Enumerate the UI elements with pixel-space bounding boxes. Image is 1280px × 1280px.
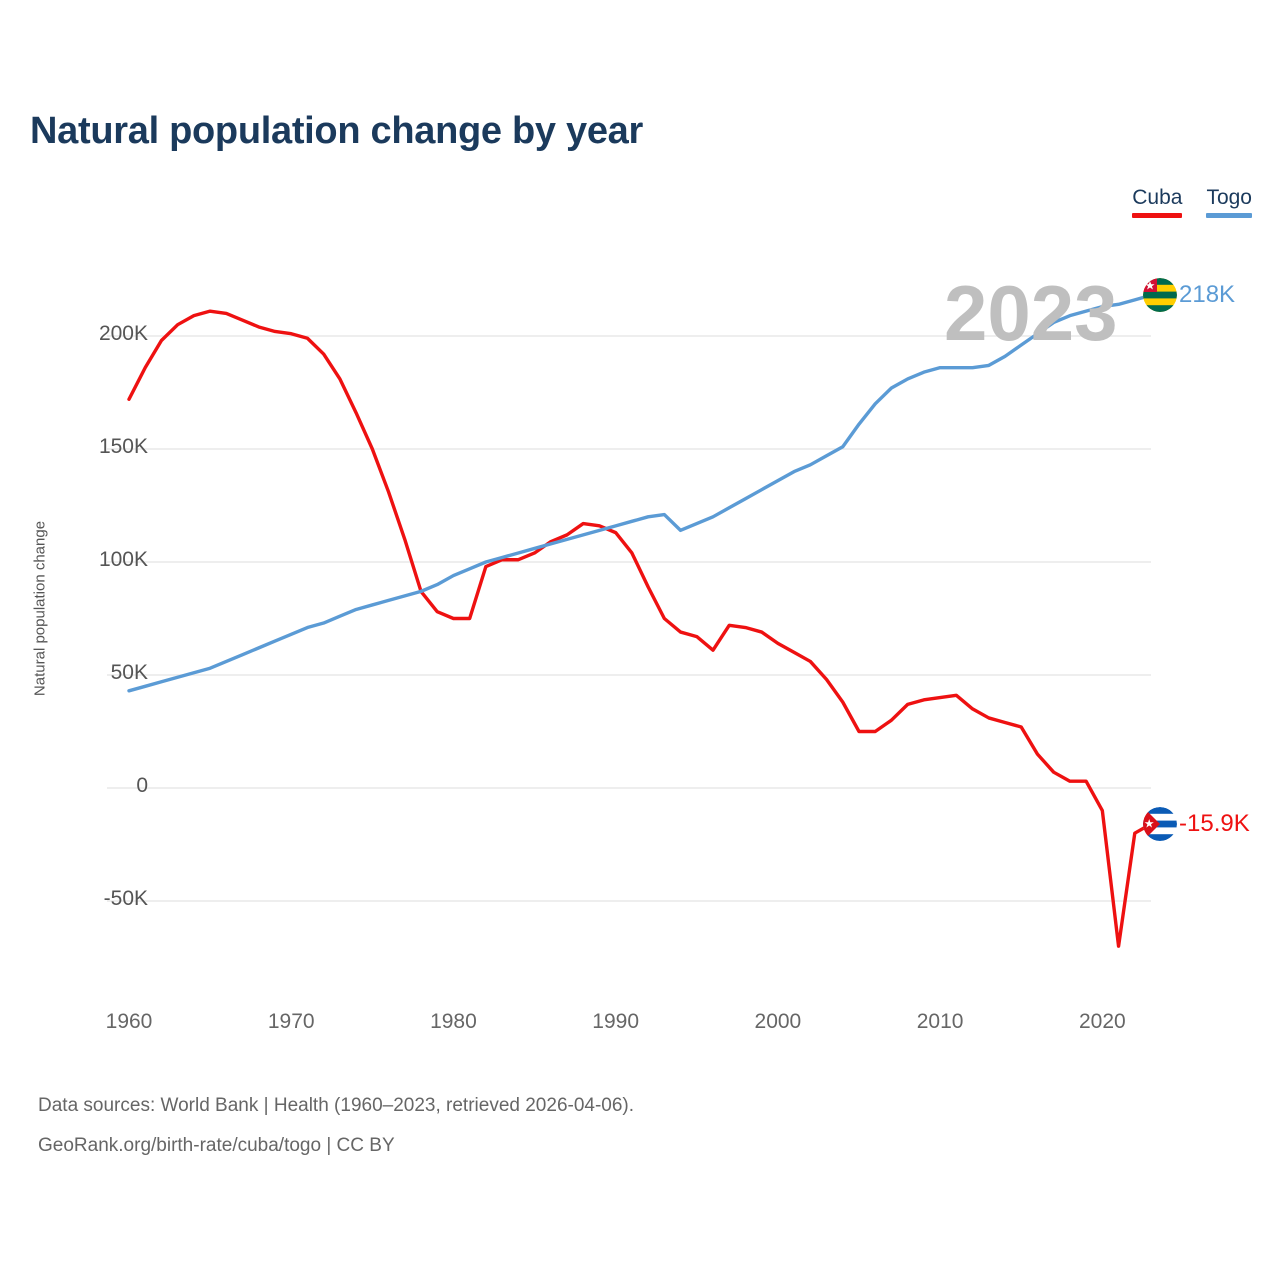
y-axis-tick-label: 150K bbox=[99, 435, 148, 459]
y-axis-title: Natural population change bbox=[32, 509, 49, 709]
cuba-endpoint[interactable]: -15.9K bbox=[1143, 807, 1250, 841]
togo-flag-icon bbox=[1143, 278, 1177, 312]
x-axis-tick-label: 1990 bbox=[592, 1010, 639, 1034]
footer-line-attribution: GeoRank.org/birth-rate/cuba/togo | CC BY bbox=[38, 1126, 634, 1166]
x-axis-tick-label: 1970 bbox=[268, 1010, 315, 1034]
footer-credits: Data sources: World Bank | Health (1960–… bbox=[38, 1086, 634, 1166]
cuba-flag-icon bbox=[1143, 807, 1177, 841]
y-axis-tick-label: -50K bbox=[104, 887, 148, 911]
year-watermark: 2023 bbox=[944, 274, 1118, 352]
chart-page: Natural population change by year Cuba T… bbox=[0, 0, 1280, 1280]
x-axis-tick-label: 1960 bbox=[106, 1010, 153, 1034]
x-axis-tick-label: 1980 bbox=[430, 1010, 477, 1034]
footer-line-sources: Data sources: World Bank | Health (1960–… bbox=[38, 1086, 634, 1126]
y-axis-tick-label: 200K bbox=[99, 322, 148, 346]
x-axis-tick-label: 2010 bbox=[917, 1010, 964, 1034]
cuba-endpoint-value: -15.9K bbox=[1179, 812, 1250, 836]
series-line-cuba[interactable] bbox=[129, 311, 1151, 946]
y-axis-tick-label: 100K bbox=[99, 548, 148, 572]
togo-endpoint-value: 218K bbox=[1179, 283, 1235, 307]
x-axis-tick-label: 2000 bbox=[755, 1010, 802, 1034]
y-axis-tick-label: 50K bbox=[111, 661, 148, 685]
togo-endpoint[interactable]: 218K bbox=[1143, 278, 1235, 312]
y-axis-tick-label: 0 bbox=[136, 774, 148, 798]
x-axis-tick-label: 2020 bbox=[1079, 1010, 1126, 1034]
